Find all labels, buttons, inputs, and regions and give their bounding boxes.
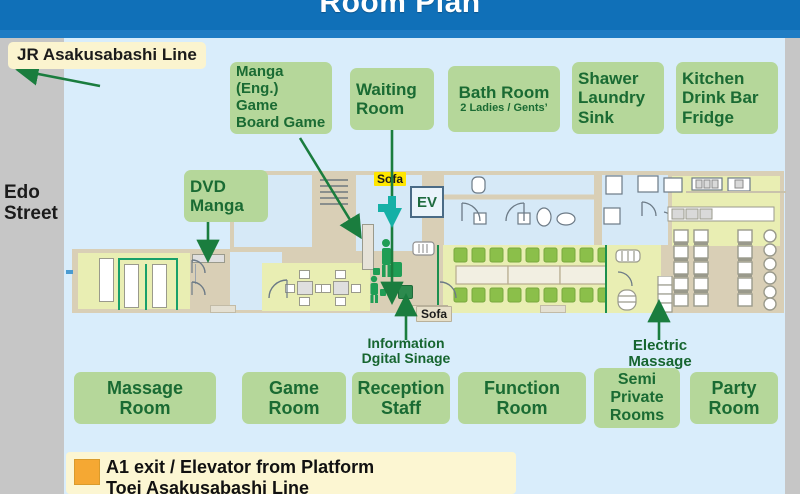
callout-semi-private-rooms[interactable]: Semi Private Rooms: [594, 368, 680, 428]
arrow-sofa-cyan-stem: [378, 196, 392, 208]
callout-reception-staff[interactable]: Reception Staff: [352, 372, 450, 424]
legend-line-2: Toei Asakusabashi Line: [106, 478, 309, 494]
legend-color-swatch: [74, 459, 100, 485]
callout-shower-laundry[interactable]: Shawer Laundry Sink: [572, 62, 664, 134]
callout-waiting-room[interactable]: Waiting Room: [350, 68, 434, 130]
jr-line-label[interactable]: JR Asakusabashi Line: [8, 42, 206, 69]
callout-dvd-manga[interactable]: DVD Manga: [184, 170, 268, 222]
callout-massage-room[interactable]: Massage Room: [74, 372, 216, 424]
callout-party-room[interactable]: Party Room: [690, 372, 778, 424]
legend-line-1: A1 exit / Elevator from Platform: [106, 457, 374, 478]
legend-panel: A1 exit / Elevator from Platform Toei As…: [66, 452, 516, 494]
arrow-sofa-cyan-head: [382, 208, 402, 228]
callout-game-room[interactable]: Game Room: [242, 372, 346, 424]
room-plan-screenshot: Room Plan Edo Street: [0, 0, 800, 494]
label-electric-massage: Electric Massage: [612, 338, 708, 370]
arrow-manga: [300, 138, 355, 228]
callout-bath-room[interactable]: Bath Room 2 Ladies / Gents’: [448, 66, 560, 132]
callout-kitchen[interactable]: Kitchen Drink Bar Fridge: [676, 62, 778, 134]
callout-manga[interactable]: Manga (Eng.) Game Board Game: [230, 62, 332, 134]
arrow-jr-line: [28, 72, 100, 86]
callout-function-room[interactable]: Function Room: [458, 372, 586, 424]
label-information-digital-signage: Information Dgital Sinage: [350, 336, 462, 365]
